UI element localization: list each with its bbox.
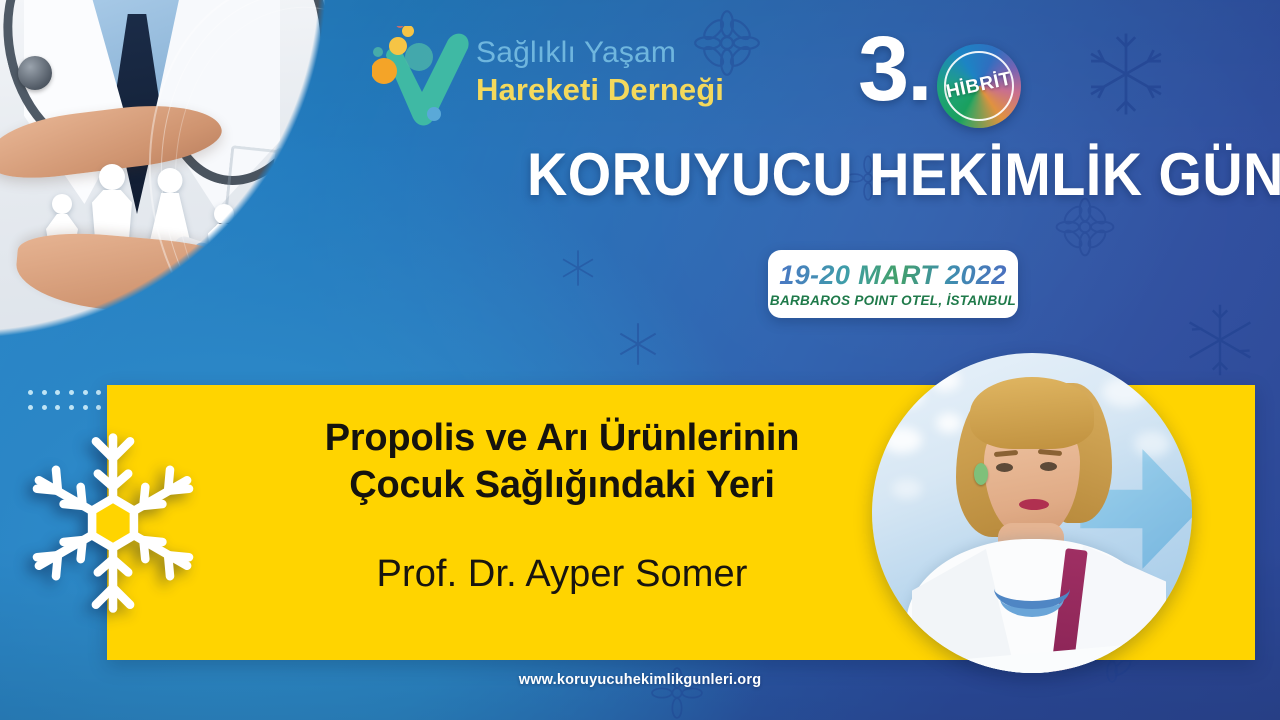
doctor-family-photo <box>0 0 352 352</box>
large-snowflake-icon <box>18 428 208 618</box>
hibrit-badge-label: HİBRİT <box>929 36 1029 136</box>
edition-number: 3. <box>858 26 931 113</box>
talk-title-line-2: Çocuk Sağlığındaki Yeri <box>212 462 912 509</box>
association-logo: Sağlıklı Yaşam Hareketi Derneği <box>372 24 732 134</box>
logo-line-1: Sağlıklı Yaşam <box>476 38 724 68</box>
snowflake-icon <box>612 318 664 370</box>
event-venue: BARBAROS POINT OTEL, İSTANBUL <box>770 293 1016 308</box>
speaker-name: Prof. Dr. Ayper Somer <box>212 553 912 596</box>
snowflake-icon <box>1080 28 1172 120</box>
event-title: KORUYUCU HEKİMLİK GÜNLERİ <box>527 140 1215 209</box>
talk-title-line-1: Propolis ve Arı Ürünlerinin <box>212 415 912 462</box>
logo-line-2: Hareketi Derneği <box>476 74 724 105</box>
website-url[interactable]: www.koruyucuhekimlikgunleri.org <box>0 672 1280 688</box>
hibrit-badge: HİBRİT <box>937 44 1021 128</box>
snowflake-icon <box>1180 300 1260 380</box>
logo-mark-icon <box>372 26 482 130</box>
snowflake-icon <box>556 246 600 290</box>
talk-title: Propolis ve Arı Ürünlerinin Çocuk Sağlığ… <box>212 415 912 509</box>
date-venue-badge: 19-20 MART 2022 BARBAROS POINT OTEL, İST… <box>768 250 1018 318</box>
poster-canvas: Sağlıklı Yaşam Hareketi Derneği 3. HİBRİ… <box>0 0 1280 720</box>
speaker-portrait <box>872 353 1192 673</box>
dot-grid-decoration <box>28 390 106 416</box>
event-dates: 19-20 MART 2022 <box>779 260 1007 291</box>
